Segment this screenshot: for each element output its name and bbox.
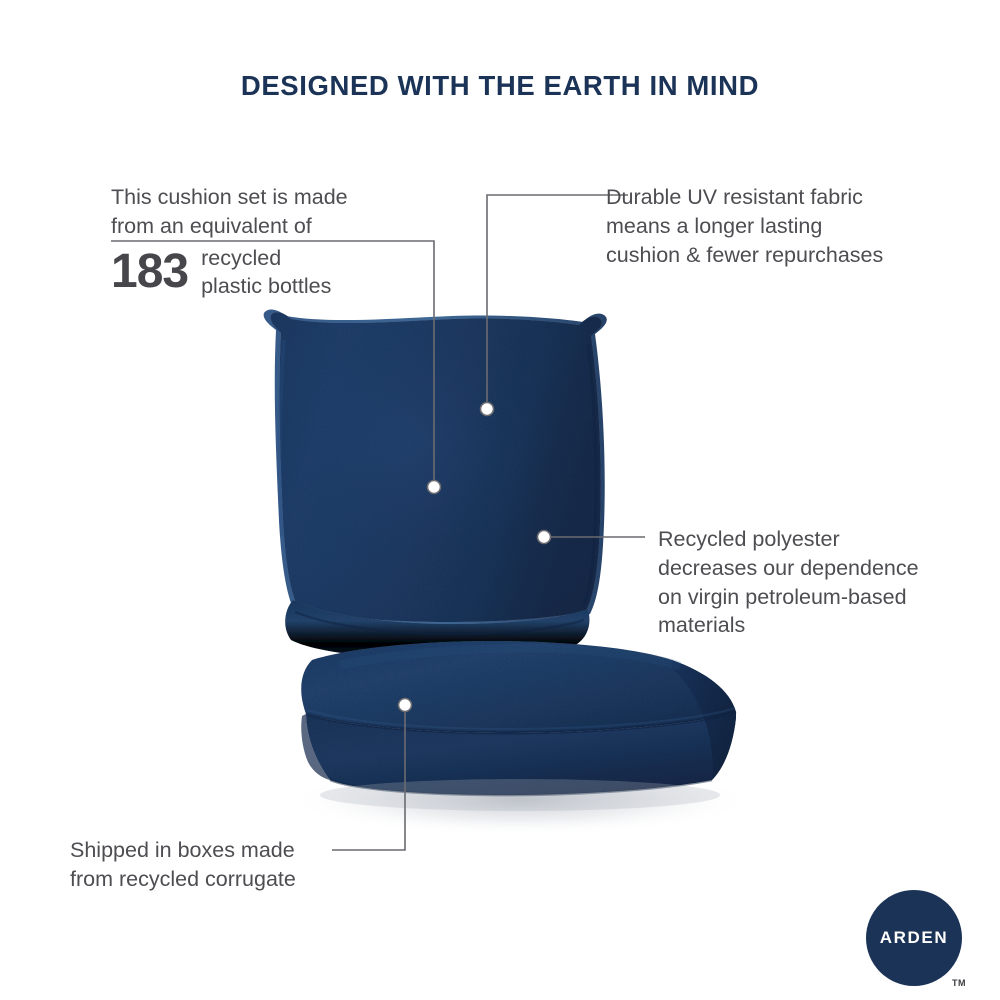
logo-wordmark: ARDEN	[880, 928, 948, 948]
infographic-canvas: DESIGNED WITH THE EARTH IN MIND	[0, 0, 1000, 1000]
callout-recycled-polyester: Recycled polyester decreases our depende…	[658, 525, 958, 640]
callout-bottles-intro: This cushion set is made from an equival…	[111, 183, 451, 241]
back-cushion	[264, 309, 607, 659]
logo-circle: ARDEN	[866, 890, 962, 986]
bottles-count-label: recycled plastic bottles	[201, 243, 331, 300]
seat-cushion	[301, 641, 736, 795]
callout-recycled-boxes: Shipped in boxes made from recycled corr…	[70, 836, 340, 894]
brand-logo: ARDEN TM	[866, 890, 962, 986]
trademark-symbol: TM	[952, 978, 966, 988]
bottles-count: 183	[111, 248, 188, 296]
callout-uv-resistant: Durable UV resistant fabric means a long…	[606, 183, 936, 269]
callout-bottles-stat: 183 recycled plastic bottles	[111, 243, 331, 300]
